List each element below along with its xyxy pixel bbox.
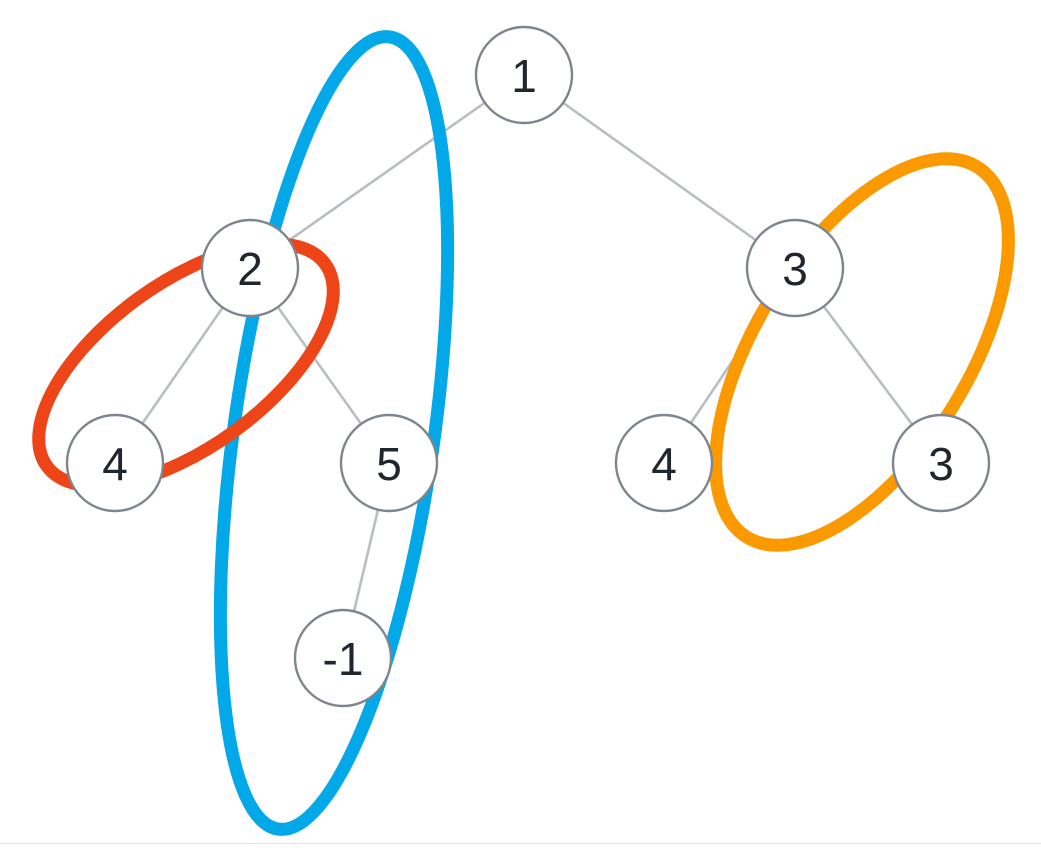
binary-tree-diagram: 1234543-1 [0, 0, 1041, 848]
tree-node-right-left[interactable]: 4 [616, 415, 712, 511]
node-label-right: 3 [782, 243, 808, 295]
node-label-left-right: 5 [376, 438, 402, 490]
tree-edge-root-to-right [563, 103, 756, 240]
tree-edge-left-to-left-left [142, 307, 222, 423]
highlight-ellipse-orange-path [657, 111, 1041, 593]
tree-edge-right-to-right-right [824, 306, 912, 424]
nodes-layer: 1234543-1 [67, 27, 989, 706]
tree-node-root[interactable]: 1 [476, 27, 572, 123]
node-label-root: 1 [511, 50, 537, 102]
node-label-left-right-left: -1 [323, 633, 364, 685]
node-label-left: 2 [237, 243, 263, 295]
node-label-right-left: 4 [651, 438, 677, 490]
tree-node-right-right[interactable]: 3 [893, 415, 989, 511]
diagram-canvas: 1234543-1 [0, 0, 1041, 848]
node-label-left-left: 4 [102, 438, 128, 490]
tree-node-left-left[interactable]: 4 [67, 415, 163, 511]
node-label-right-right: 3 [928, 438, 954, 490]
tree-node-left-right[interactable]: 5 [341, 415, 437, 511]
highlight-ellipse-red-path [0, 198, 373, 533]
tree-node-left[interactable]: 2 [202, 220, 298, 316]
highlight-groups-layer [0, 23, 1041, 843]
tree-node-right[interactable]: 3 [747, 220, 843, 316]
tree-edge-left-right-to-left-right-left [354, 510, 378, 612]
bottom-divider [0, 843, 1041, 844]
edges-layer [142, 103, 912, 612]
tree-node-left-right-left[interactable]: -1 [295, 610, 391, 706]
